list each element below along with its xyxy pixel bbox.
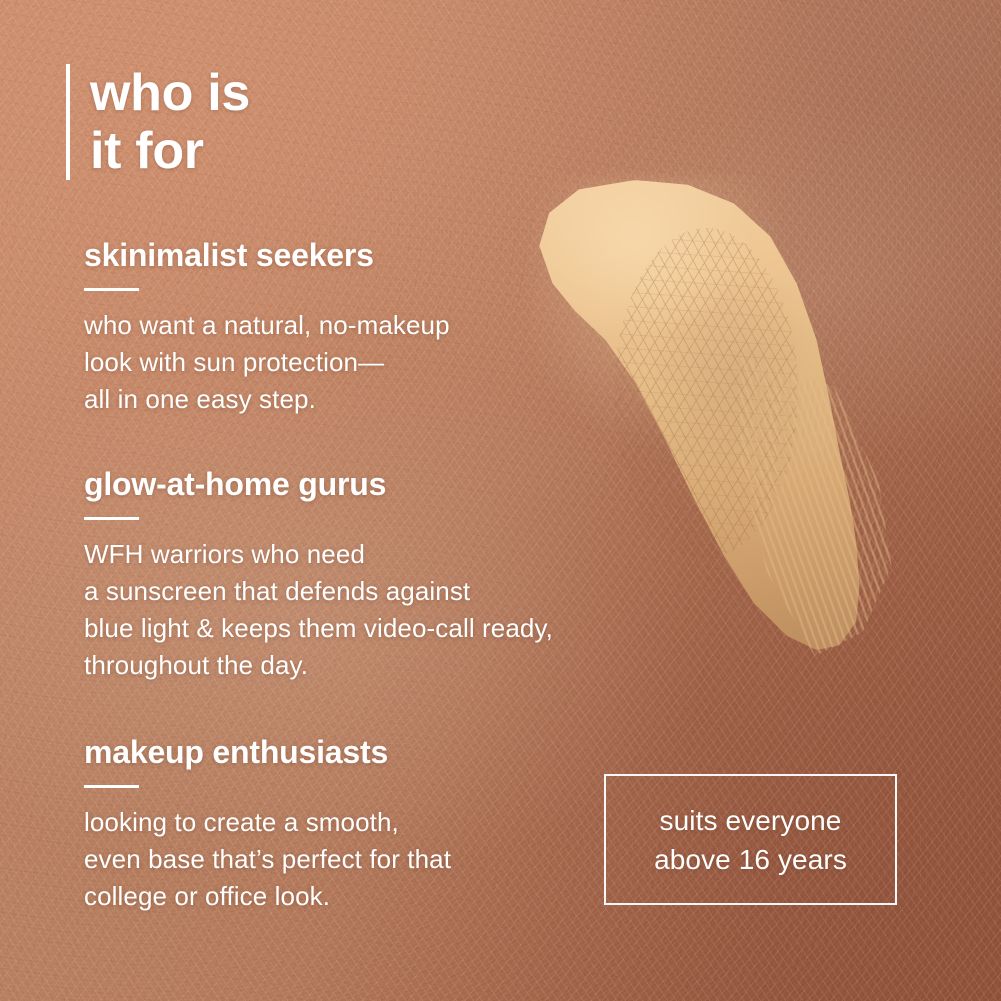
section-glow-at-home-gurus: glow-at-home gurus WFH warriors who need…	[84, 465, 553, 684]
section-makeup-enthusiasts: makeup enthusiasts looking to create a s…	[84, 733, 451, 915]
section-divider	[84, 288, 139, 291]
page-title: who is it for	[90, 64, 250, 180]
page-title-block: who is it for	[66, 64, 250, 180]
age-suitability-text: suits everyone above 16 years	[654, 801, 847, 879]
section-body: looking to create a smooth, even base th…	[84, 804, 451, 915]
poster-content: who is it for skinimalist seekers who wa…	[0, 0, 1001, 1001]
section-divider	[84, 785, 139, 788]
section-heading: skinimalist seekers	[84, 236, 450, 274]
poster-canvas: who is it for skinimalist seekers who wa…	[0, 0, 1001, 1001]
age-suitability-box: suits everyone above 16 years	[604, 774, 897, 905]
section-skinimalist-seekers: skinimalist seekers who want a natural, …	[84, 236, 450, 418]
section-body: WFH warriors who need a sunscreen that d…	[84, 536, 553, 684]
section-heading: makeup enthusiasts	[84, 733, 451, 771]
section-divider	[84, 517, 139, 520]
section-heading: glow-at-home gurus	[84, 465, 553, 503]
title-accent-rule	[66, 64, 70, 180]
section-body: who want a natural, no-makeup look with …	[84, 307, 450, 418]
